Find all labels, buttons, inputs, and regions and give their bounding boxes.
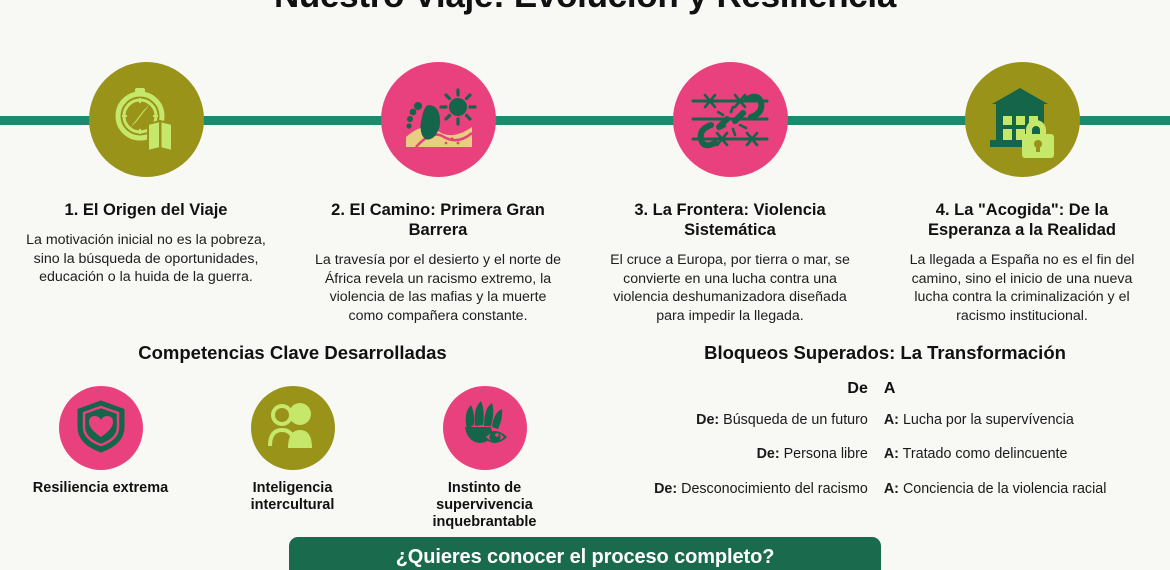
step-4-title: 4. La "Acogida": De la Esperanza a la Re…: [897, 200, 1147, 240]
bloqueos-heading: Bloqueos Superados: La Transformación: [600, 342, 1170, 364]
de-value: Búsqueda de un futuro: [723, 412, 868, 428]
step-1-title: 1. El Origen del Viaje: [21, 200, 271, 220]
competencias-section: Competencias Clave Desarrolladas Resilie…: [0, 342, 585, 531]
competencia-item-inteligencia: Inteligencia intercultural: [218, 386, 368, 531]
cell-a: A: Lucha por la supervívencia: [876, 412, 1170, 446]
step-2-title: 2. El Camino: Primera Gran Barrera: [313, 200, 563, 240]
cta-button[interactable]: ¿Quieres conocer el proceso completo?: [289, 537, 881, 570]
a-prefix: A:: [884, 412, 899, 428]
step-3-title: 3. La Frontera: Violencia Sistemática: [605, 200, 855, 240]
a-prefix: A:: [884, 481, 899, 497]
timeline-step-4: 4. La "Acogida": De la Esperanza a la Re…: [876, 62, 1168, 325]
cell-a: A: Conciencia de la violencia racial: [876, 481, 1170, 515]
table-row: De: Desconocimiento del racismo A: Conci…: [600, 481, 1170, 515]
cta-button-label: ¿Quieres conocer el proceso completo?: [396, 546, 775, 569]
cell-a: A: Tratado como delincuente: [876, 446, 1170, 480]
cell-de: De: Persona libre: [600, 446, 876, 480]
a-value: Conciencia de la violencia racial: [903, 481, 1106, 497]
competencias-list: Resiliencia extrema Inteligencia intercu…: [0, 386, 585, 531]
claw-eye-icon: [457, 399, 513, 458]
step-2-description: La travesía por el desierto y el norte d…: [312, 251, 564, 325]
competencia-3-circle[interactable]: [443, 386, 527, 470]
a-value: Lucha por la supervívencia: [903, 412, 1074, 428]
step-3-circle[interactable]: [673, 62, 788, 177]
step-3-description: El cruce a Europa, por tierra o mar, se …: [604, 251, 856, 325]
institution-padlock-icon: [982, 82, 1062, 158]
timeline-step-2: 2. El Camino: Primera Gran Barrera La tr…: [292, 62, 584, 325]
shield-heart-icon: [75, 399, 127, 458]
cell-de: De: Búsqueda de un futuro: [600, 412, 876, 446]
infographic-root: Nuestro Viaje: Evolución y Resiliencia: [0, 0, 1170, 570]
footprint-desert-sun-icon: [398, 81, 478, 159]
step-1-description: La motivación inicial no es la pobreza, …: [20, 231, 272, 286]
table-body: De: Búsqueda de un futuro A: Lucha por l…: [600, 412, 1170, 515]
competencia-item-instinto: Instinto de supervivencia inquebrantable: [410, 386, 560, 531]
de-prefix: De:: [757, 446, 780, 462]
competencia-item-resiliencia: Resiliencia extrema: [26, 386, 176, 531]
step-4-circle[interactable]: [965, 62, 1080, 177]
competencia-1-label: Resiliencia extrema: [33, 480, 168, 497]
de-value: Desconocimiento del racismo: [681, 481, 868, 497]
step-1-circle[interactable]: [89, 62, 204, 177]
cell-de: De: Desconocimiento del racismo: [600, 481, 876, 515]
column-header-de: De: [600, 380, 876, 412]
two-people-icon: [266, 400, 320, 457]
timeline-step-3: 3. La Frontera: Violencia Sistemática El…: [584, 62, 876, 325]
table-row: De: Persona libre A: Tratado como delinc…: [600, 446, 1170, 480]
step-2-circle[interactable]: [381, 62, 496, 177]
timeline-steps: 1. El Origen del Viaje La motivación ini…: [0, 62, 1170, 325]
barbed-wire-broken-chain-icon: [689, 81, 771, 159]
competencias-heading: Competencias Clave Desarrolladas: [0, 342, 585, 364]
bloqueos-section: Bloqueos Superados: La Transformación De…: [600, 342, 1170, 515]
de-value: Persona libre: [784, 446, 868, 462]
a-prefix: A:: [884, 446, 899, 462]
competencia-3-label: Instinto de supervivencia inquebrantable: [410, 480, 560, 531]
de-prefix: De:: [696, 412, 719, 428]
page-title: Nuestro Viaje: Evolución y Resiliencia: [0, 0, 1170, 16]
a-value: Tratado como delincuente: [903, 446, 1068, 462]
competencia-2-circle[interactable]: [251, 386, 335, 470]
timeline-step-1: 1. El Origen del Viaje La motivación ini…: [0, 62, 292, 325]
competencia-1-circle[interactable]: [59, 386, 143, 470]
bloqueos-table: De A De: Búsqueda de un futuro A: Lucha …: [600, 380, 1170, 515]
table-row: De: Búsqueda de un futuro A: Lucha por l…: [600, 412, 1170, 446]
table-header-row: De A: [600, 380, 1170, 412]
step-4-description: La llegada a España no es el fin del cam…: [896, 251, 1148, 325]
competencia-2-label: Inteligencia intercultural: [218, 480, 368, 514]
de-prefix: De:: [654, 481, 677, 497]
column-header-a: A: [876, 380, 1170, 412]
compass-book-icon: [108, 82, 184, 158]
